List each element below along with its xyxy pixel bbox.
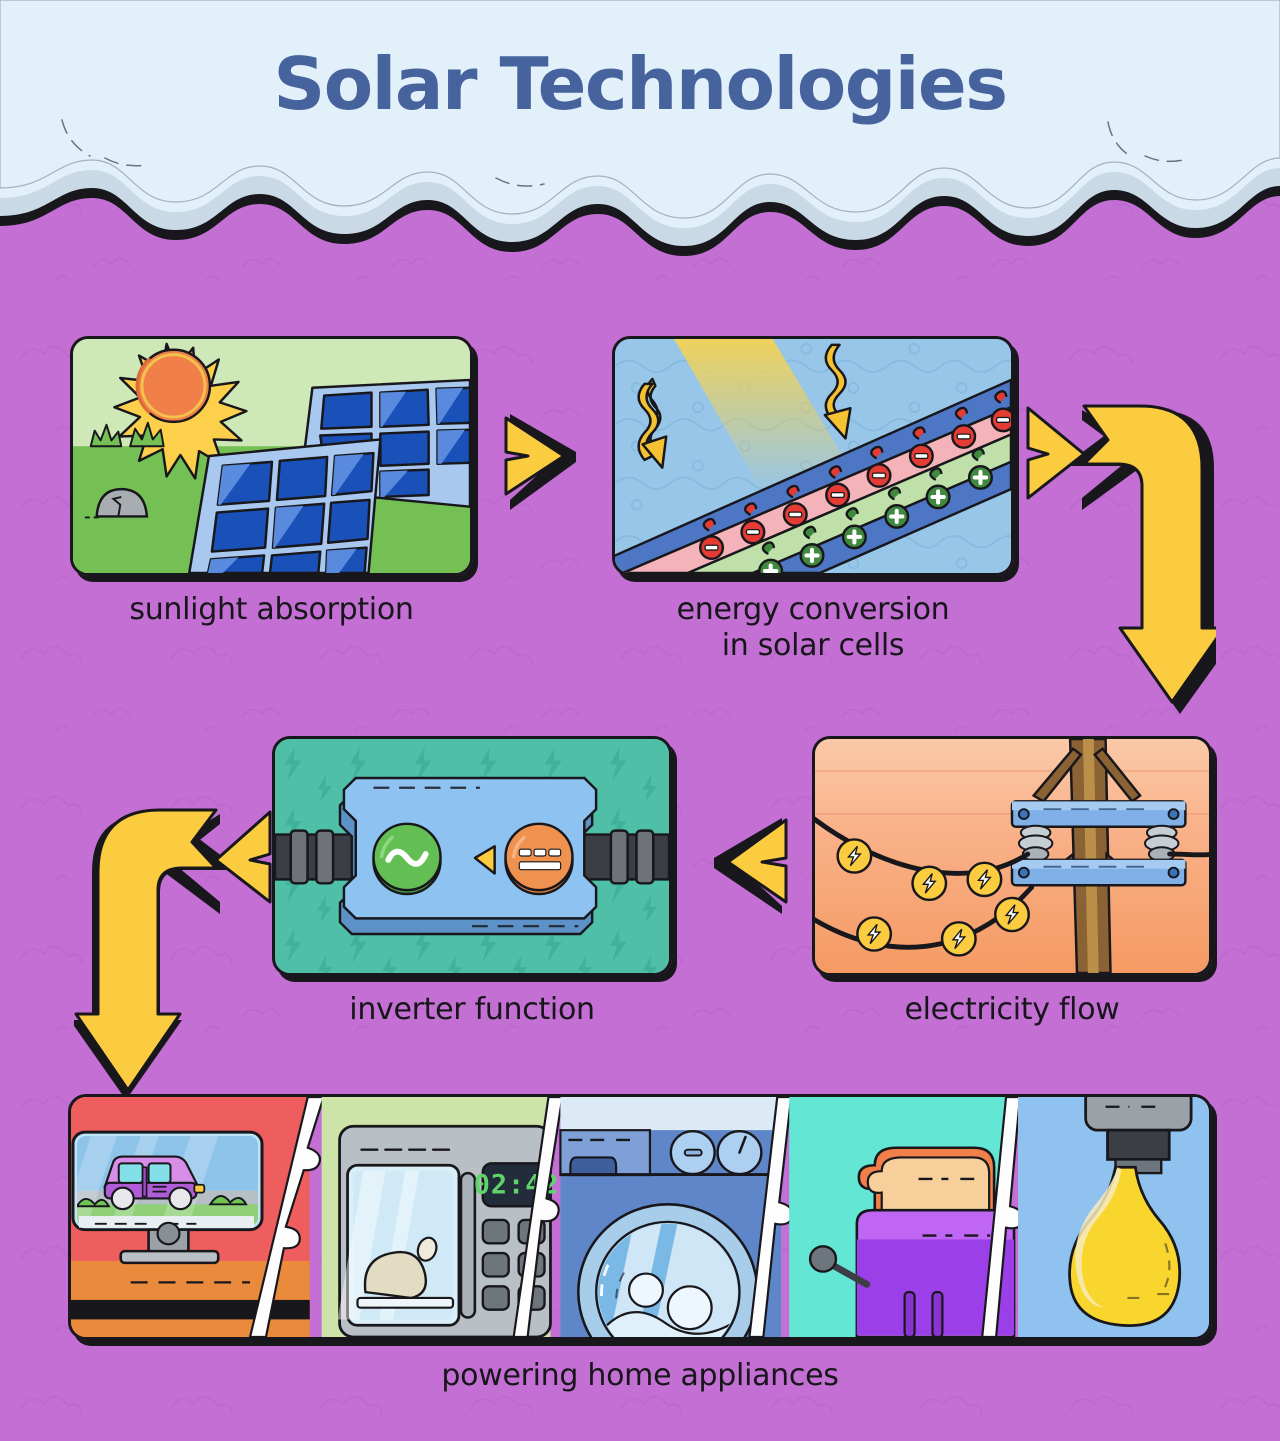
conduit-right [574,831,669,884]
curved-arrow-left-down [74,806,274,1096]
curved-arrow-right-down [1026,402,1216,722]
chevron-left-arrow-1 [694,814,794,914]
appliance-light-bulb [1018,1097,1209,1337]
header-banner: Solar Technologies [0,0,1280,262]
caption-electricity-flow: electricity flow [812,992,1212,1028]
panel-energy-conversion[interactable] [612,336,1014,576]
caption-energy-conversion: energy conversion in solar cells [612,592,1014,664]
cloud-banner-shape [0,0,1280,262]
caption-sunlight-absorption: sunlight absorption [70,592,473,628]
appliance-toaster [789,1097,1014,1337]
caption-energy-conversion-line2: in solar cells [612,628,1014,664]
ac-sine-icon [374,824,441,894]
panel-home-appliances[interactable]: 02:42 [68,1094,1212,1340]
solar-cell-cross-section-illustration [615,339,1011,573]
home-appliances-strip-illustration: 02:42 [71,1097,1209,1337]
microwave-door [338,1165,475,1325]
solar-panels-in-field-illustration [73,339,470,573]
inverter-device-illustration [275,739,669,973]
panel-inverter-function[interactable] [272,736,672,976]
dc-dashes-icon [505,824,572,894]
caption-inverter-function: inverter function [272,992,672,1028]
power-line-pole-illustration [815,739,1209,973]
solar-panel-front [189,439,380,573]
panel-electricity-flow[interactable] [812,736,1212,976]
chevron-right-arrow-1 [498,410,588,510]
caption-energy-conversion-line1: energy conversion [612,592,1014,628]
crossarm-lower [1012,860,1185,885]
panel-sunlight-absorption[interactable] [70,336,473,576]
page-title: Solar Technologies [0,42,1280,126]
appliance-washing-machine [560,1097,781,1337]
crossarm-upper [1012,801,1185,826]
tv-screen [71,1132,262,1230]
caption-home-appliances: powering home appliances [68,1358,1212,1394]
